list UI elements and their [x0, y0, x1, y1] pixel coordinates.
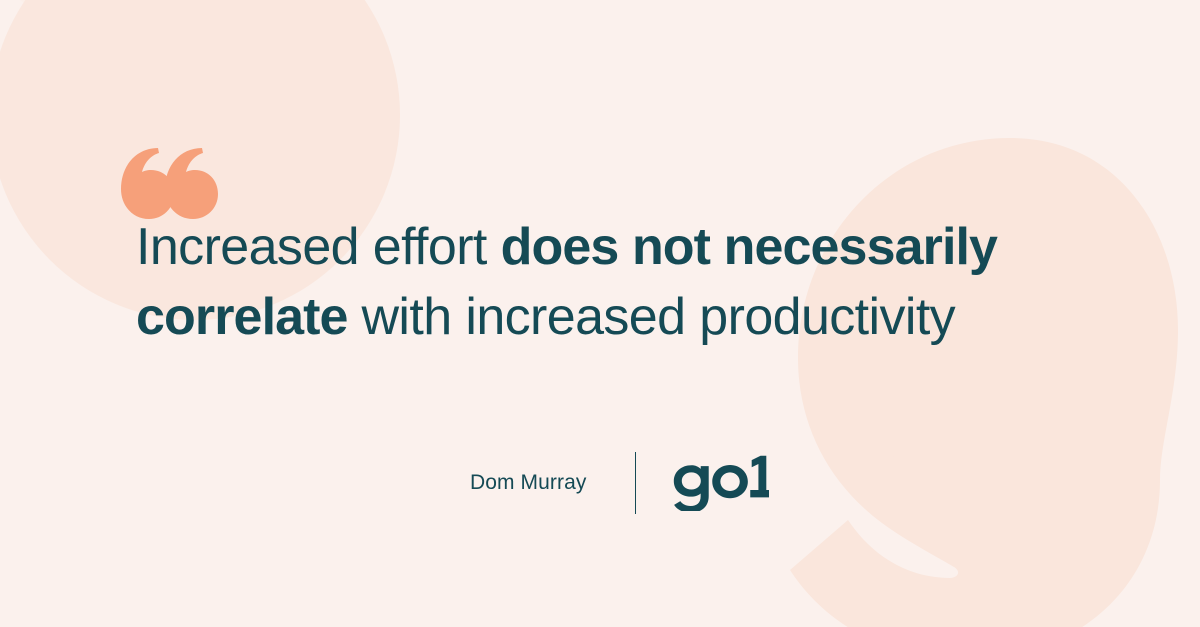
double-open-quote-icon — [118, 142, 218, 222]
go1-logo — [669, 453, 769, 513]
quote-line-1-regular: Increased effort — [136, 218, 501, 276]
quote-text: Increased effort does not necessarily co… — [136, 212, 1086, 352]
quote-line-2-regular: with increased productivity — [348, 288, 955, 346]
quote-line-2: correlate with increased productivity — [136, 282, 1086, 352]
quote-line-1: Increased effort does not necessarily — [136, 212, 1086, 282]
go1-logo-mark — [669, 455, 769, 511]
card-content: Increased effort does not necessarily co… — [0, 0, 1200, 627]
author-name: Dom Murray — [432, 471, 587, 495]
quote-line-1-bold: does not necessarily — [501, 218, 997, 276]
quote-line-2-bold: correlate — [136, 288, 348, 346]
attribution-row: Dom Murray — [0, 452, 1200, 514]
quote-card: Increased effort does not necessarily co… — [0, 0, 1200, 627]
vertical-divider — [635, 452, 636, 514]
